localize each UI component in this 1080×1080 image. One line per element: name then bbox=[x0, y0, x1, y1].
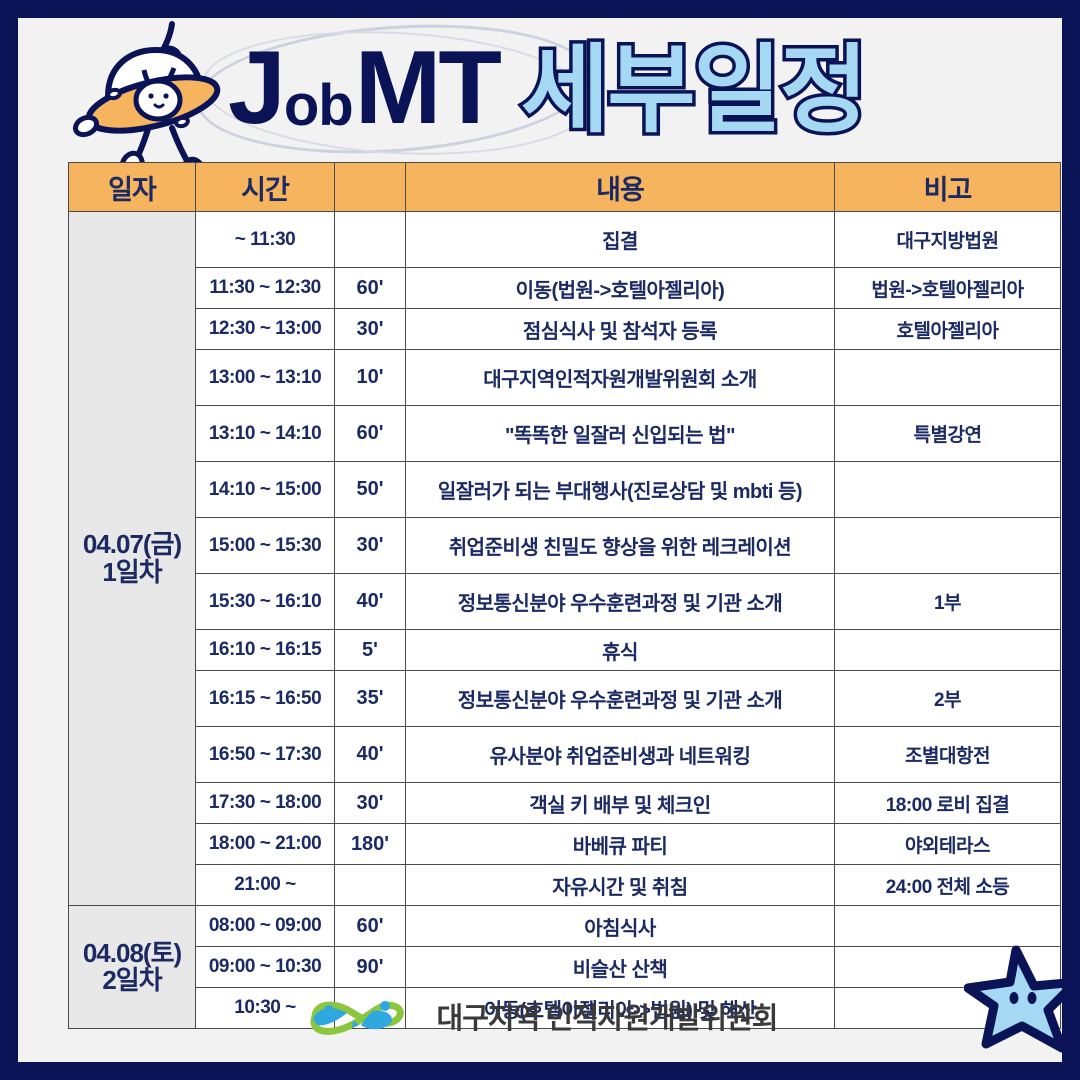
duration-cell: 5' bbox=[335, 630, 406, 671]
duration-cell bbox=[335, 865, 406, 906]
table-body: 04.07(금) 1일차 ~ 11:30 집결 대구지방법원 11:30 ~ 1… bbox=[69, 212, 1061, 1029]
time-cell: 17:30 ~ 18:00 bbox=[196, 783, 335, 824]
time-cell: 21:00 ~ bbox=[196, 865, 335, 906]
content-cell: 집결 bbox=[406, 212, 835, 268]
content-cell: 비슬산 산책 bbox=[406, 947, 835, 988]
table-row: 12:30 ~ 13:00 30' 점심식사 및 참석자 등록 호텔아젤리아 bbox=[69, 309, 1061, 350]
time-cell: 11:30 ~ 12:30 bbox=[196, 268, 335, 309]
note-cell: 법원->호텔아젤리아 bbox=[835, 268, 1061, 309]
content-cell: 정보통신분야 우수훈련과정 및 기관 소개 bbox=[406, 574, 835, 630]
duration-cell: 35' bbox=[335, 671, 406, 727]
note-cell: 24:00 전체 소등 bbox=[835, 865, 1061, 906]
page-title: J ob MT 세부일정 bbox=[228, 36, 866, 140]
note-cell: 호텔아젤리아 bbox=[835, 309, 1061, 350]
table-row: 13:00 ~ 13:10 10' 대구지역인적자원개발위원회 소개 bbox=[69, 350, 1061, 406]
infinity-people-logo-icon bbox=[303, 993, 423, 1039]
time-cell: 15:30 ~ 16:10 bbox=[196, 574, 335, 630]
title-letter-mt: MT bbox=[355, 36, 499, 140]
col-header-date: 일자 bbox=[69, 163, 196, 212]
content-cell: 아침식사 bbox=[406, 906, 835, 947]
date-cell-day1: 04.07(금) 1일차 bbox=[69, 212, 196, 906]
content-cell: 휴식 bbox=[406, 630, 835, 671]
table-row: 04.08(토) 2일차 08:00 ~ 09:00 60' 아침식사 bbox=[69, 906, 1061, 947]
day1-date: 04.07(금) bbox=[83, 529, 181, 559]
table-row: 11:30 ~ 12:30 60' 이동(법원->호텔아젤리아) 법원->호텔아… bbox=[69, 268, 1061, 309]
note-cell: 1부 bbox=[835, 574, 1061, 630]
time-cell: 15:00 ~ 15:30 bbox=[196, 518, 335, 574]
table-row: 13:10 ~ 14:10 60' "똑똑한 일잘러 신입되는 법" 특별강연 bbox=[69, 406, 1061, 462]
note-cell: 대구지방법원 bbox=[835, 212, 1061, 268]
content-cell: "똑똑한 일잘러 신입되는 법" bbox=[406, 406, 835, 462]
note-cell: 2부 bbox=[835, 671, 1061, 727]
title-letter-ob: ob bbox=[284, 77, 353, 135]
schedule-table: 일자 시간 내용 비고 04.07(금) 1일차 ~ 11:30 집결 대구지방… bbox=[68, 162, 1061, 1029]
poster-canvas: J ob MT 세부일정 bbox=[18, 18, 1062, 1062]
time-cell: 12:30 ~ 13:00 bbox=[196, 309, 335, 350]
duration-cell: 30' bbox=[335, 518, 406, 574]
duration-cell: 40' bbox=[335, 574, 406, 630]
duration-cell: 50' bbox=[335, 462, 406, 518]
table-row: 21:00 ~ 자유시간 및 취침 24:00 전체 소등 bbox=[69, 865, 1061, 906]
note-cell: 야외테라스 bbox=[835, 824, 1061, 865]
duration-cell: 60' bbox=[335, 906, 406, 947]
table-row: 16:15 ~ 16:50 35' 정보통신분야 우수훈련과정 및 기관 소개 … bbox=[69, 671, 1061, 727]
content-cell: 이동(법원->호텔아젤리아) bbox=[406, 268, 835, 309]
content-cell: 바베큐 파티 bbox=[406, 824, 835, 865]
table-row: 09:00 ~ 10:30 90' 비슬산 산책 bbox=[69, 947, 1061, 988]
note-cell bbox=[835, 906, 1061, 947]
col-header-time: 시간 bbox=[196, 163, 335, 212]
time-cell: 09:00 ~ 10:30 bbox=[196, 947, 335, 988]
footer-org-name: 대구지역 인적자원개발위원회 bbox=[437, 995, 778, 1037]
note-cell: 18:00 로비 집결 bbox=[835, 783, 1061, 824]
table-row: 16:50 ~ 17:30 40' 유사분야 취업준비생과 네트워킹 조별대항전 bbox=[69, 727, 1061, 783]
content-cell: 점심식사 및 참석자 등록 bbox=[406, 309, 835, 350]
time-cell: 16:15 ~ 16:50 bbox=[196, 671, 335, 727]
content-cell: 유사분야 취업준비생과 네트워킹 bbox=[406, 727, 835, 783]
time-cell: 18:00 ~ 21:00 bbox=[196, 824, 335, 865]
duration-cell: 10' bbox=[335, 350, 406, 406]
table-row: 17:30 ~ 18:00 30' 객실 키 배부 및 체크인 18:00 로비… bbox=[69, 783, 1061, 824]
duration-cell: 30' bbox=[335, 783, 406, 824]
time-cell: 16:50 ~ 17:30 bbox=[196, 727, 335, 783]
note-cell bbox=[835, 518, 1061, 574]
content-cell: 취업준비생 친밀도 향상을 위한 레크레이션 bbox=[406, 518, 835, 574]
note-cell bbox=[835, 630, 1061, 671]
col-header-spacer bbox=[335, 163, 406, 212]
table-row: 15:00 ~ 15:30 30' 취업준비생 친밀도 향상을 위한 레크레이션 bbox=[69, 518, 1061, 574]
content-cell: 일잘러가 되는 부대행사(진로상담 및 mbti 등) bbox=[406, 462, 835, 518]
footer-bar: 대구지역 인적자원개발위원회 bbox=[18, 988, 1062, 1044]
content-cell: 대구지역인적자원개발위원회 소개 bbox=[406, 350, 835, 406]
duration-cell: 60' bbox=[335, 406, 406, 462]
day2-date: 04.08(토) bbox=[83, 938, 181, 968]
content-cell: 정보통신분야 우수훈련과정 및 기관 소개 bbox=[406, 671, 835, 727]
duration-cell: 60' bbox=[335, 268, 406, 309]
content-cell: 객실 키 배부 및 체크인 bbox=[406, 783, 835, 824]
duration-cell: 30' bbox=[335, 309, 406, 350]
content-cell: 자유시간 및 취침 bbox=[406, 865, 835, 906]
note-cell bbox=[835, 462, 1061, 518]
duration-cell: 90' bbox=[335, 947, 406, 988]
table-header-row: 일자 시간 내용 비고 bbox=[69, 163, 1061, 212]
col-header-content: 내용 bbox=[406, 163, 835, 212]
note-cell: 특별강연 bbox=[835, 406, 1061, 462]
time-cell: ~ 11:30 bbox=[196, 212, 335, 268]
duration-cell: 180' bbox=[335, 824, 406, 865]
table-row: 15:30 ~ 16:10 40' 정보통신분야 우수훈련과정 및 기관 소개 … bbox=[69, 574, 1061, 630]
note-cell bbox=[835, 350, 1061, 406]
time-cell: 08:00 ~ 09:00 bbox=[196, 906, 335, 947]
table-row: 04.07(금) 1일차 ~ 11:30 집결 대구지방법원 bbox=[69, 212, 1061, 268]
time-cell: 13:10 ~ 14:10 bbox=[196, 406, 335, 462]
table-row: 18:00 ~ 21:00 180' 바베큐 파티 야외테라스 bbox=[69, 824, 1061, 865]
time-cell: 14:10 ~ 15:00 bbox=[196, 462, 335, 518]
day1-label: 1일차 bbox=[102, 557, 161, 587]
time-cell: 13:00 ~ 13:10 bbox=[196, 350, 335, 406]
col-header-note: 비고 bbox=[835, 163, 1061, 212]
note-cell: 조별대항전 bbox=[835, 727, 1061, 783]
time-cell: 16:10 ~ 16:15 bbox=[196, 630, 335, 671]
table-row: 14:10 ~ 15:00 50' 일잘러가 되는 부대행사(진로상담 및 mb… bbox=[69, 462, 1061, 518]
duration-cell: 40' bbox=[335, 727, 406, 783]
duration-cell bbox=[335, 212, 406, 268]
table-row: 16:10 ~ 16:15 5' 휴식 bbox=[69, 630, 1061, 671]
title-korean: 세부일정 bbox=[521, 43, 866, 139]
